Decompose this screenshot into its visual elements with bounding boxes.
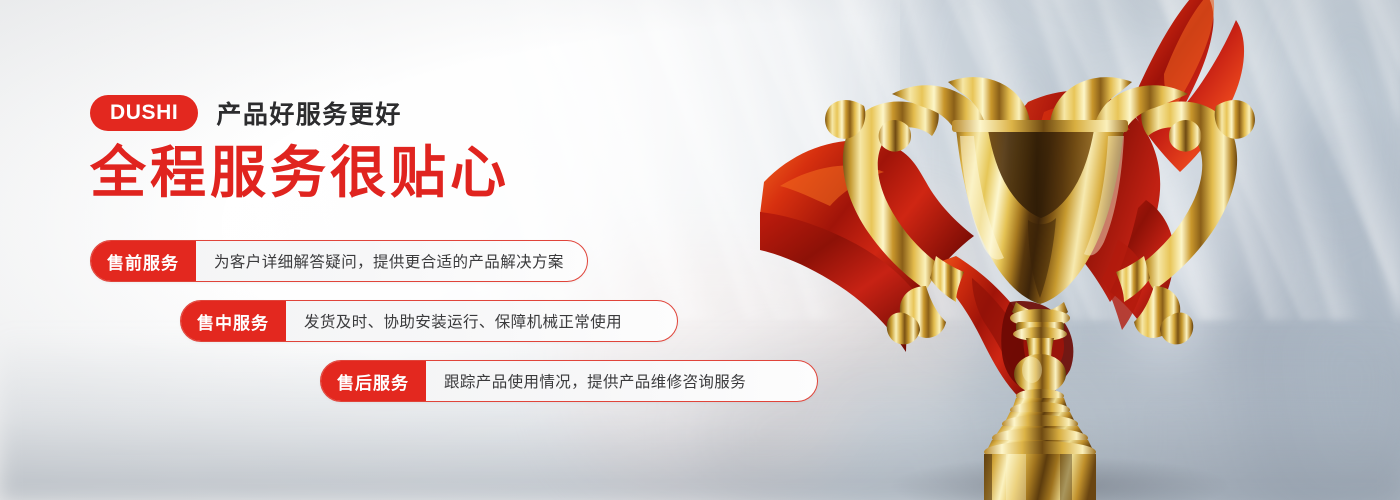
page-title: 全程服务很贴心 [90, 142, 850, 205]
tagline-text: 产品好服务更好 [216, 95, 402, 131]
service-row-presale: 售前服务 为客户详细解答疑问，提供更合适的产品解决方案 [90, 240, 588, 282]
service-tag-presale: 售前服务 [90, 240, 196, 282]
headline-block: DUSHI 产品好服务更好 全程服务很贴心 [90, 92, 850, 205]
service-list: 售前服务 为客户详细解答疑问，提供更合适的产品解决方案 售中服务 发货及时、协助… [90, 240, 990, 420]
brand-pill: DUSHI [90, 95, 198, 131]
service-tag-midsale: 售中服务 [180, 300, 286, 342]
service-tag-aftersale: 售后服务 [320, 360, 426, 402]
service-promo-banner: DUSHI 产品好服务更好 全程服务很贴心 售前服务 为客户详细解答疑问，提供更… [0, 0, 1400, 500]
service-text-presale: 为客户详细解答疑问，提供更合适的产品解决方案 [196, 241, 587, 281]
service-text-aftersale: 跟踪产品使用情况，提供产品维修咨询服务 [426, 361, 817, 401]
service-row-midsale: 售中服务 发货及时、协助安装运行、保障机械正常使用 [180, 300, 678, 342]
tagline-row: DUSHI 产品好服务更好 [90, 92, 850, 134]
trophy-base-column [984, 454, 1096, 500]
trophy-rim [952, 120, 1128, 132]
service-text-midsale: 发货及时、协助安装运行、保障机械正常使用 [286, 301, 677, 341]
service-row-aftersale: 售后服务 跟踪产品使用情况，提供产品维修咨询服务 [320, 360, 818, 402]
